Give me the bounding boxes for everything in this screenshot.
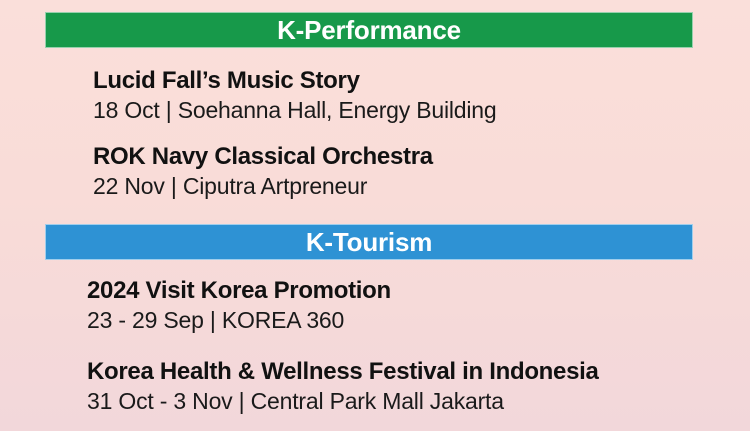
section-banner-k-tourism: K-Tourism [45,224,693,260]
event-item: ROK Navy Classical Orchestra 22 Nov | Ci… [93,144,433,200]
event-item: Lucid Fall’s Music Story 18 Oct | Soehan… [93,68,496,124]
event-schedule-poster: K-Performance Lucid Fall’s Music Story 1… [0,0,750,431]
section-banner-k-performance: K-Performance [45,12,693,48]
event-item: Korea Health & Wellness Festival in Indo… [87,359,599,415]
event-detail: 23 - 29 Sep | KOREA 360 [87,307,391,335]
event-item: 2024 Visit Korea Promotion 23 - 29 Sep |… [87,278,391,334]
section-banner-label: K-Tourism [306,229,432,255]
event-detail: 22 Nov | Ciputra Artpreneur [93,173,433,201]
event-title: Korea Health & Wellness Festival in Indo… [87,359,599,386]
event-detail: 31 Oct - 3 Nov | Central Park Mall Jakar… [87,388,599,416]
section-banner-label: K-Performance [277,17,461,43]
event-title: 2024 Visit Korea Promotion [87,278,391,305]
event-detail: 18 Oct | Soehanna Hall, Energy Building [93,97,496,125]
event-title: Lucid Fall’s Music Story [93,68,496,95]
event-title: ROK Navy Classical Orchestra [93,144,433,171]
